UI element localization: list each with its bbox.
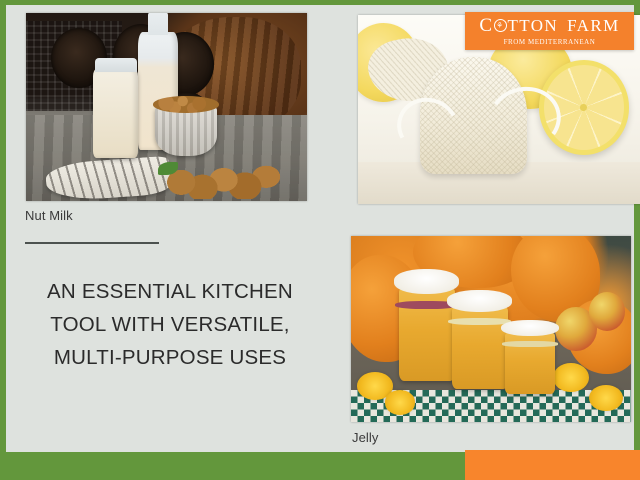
nut-milk-scene bbox=[26, 13, 307, 201]
jar-cloth-lid bbox=[501, 320, 559, 336]
brand-name-part-3: FARM bbox=[567, 17, 620, 34]
caption-jelly: Jelly bbox=[352, 430, 379, 445]
brand-name-part-1: C bbox=[479, 16, 493, 35]
jar-cloth-lid bbox=[394, 269, 459, 293]
headline: AN ESSENTIAL KITCHEN TOOL WITH VERSATILE… bbox=[25, 275, 315, 374]
milk-jar bbox=[93, 69, 138, 157]
brand-name-part-2: TTON bbox=[507, 17, 558, 34]
caption-nut-milk: Nut Milk bbox=[25, 208, 73, 223]
dandelion-flower bbox=[553, 363, 589, 393]
jar-ribbon-tie bbox=[502, 341, 558, 347]
jelly-jar bbox=[505, 333, 555, 394]
slide: Nut Milk Jelly AN ESSENTIAL KITCHEN TOOL… bbox=[0, 0, 640, 480]
pecan-bowl bbox=[155, 107, 217, 156]
jelly-scene bbox=[351, 236, 631, 422]
headline-divider bbox=[25, 242, 159, 244]
dandelion-flower bbox=[589, 385, 623, 411]
scattered-pecans bbox=[167, 162, 285, 200]
photo-jelly[interactable] bbox=[351, 236, 631, 422]
cotton-boll-emblem-icon: ⚘ bbox=[494, 19, 507, 32]
brand-tagline: FROM MEDITERRANEAN bbox=[504, 38, 596, 46]
brand-logo-banner[interactable]: C ⚘ TTON FARM FROM MEDITERRANEAN bbox=[465, 12, 634, 50]
headline-line-3: MULTI-PURPOSE USES bbox=[25, 341, 315, 374]
footer-orange-bar bbox=[465, 450, 640, 480]
jelly-jar bbox=[452, 307, 508, 389]
jar-cloth-lid bbox=[447, 290, 512, 311]
slide-canvas: Nut Milk Jelly AN ESSENTIAL KITCHEN TOOL… bbox=[6, 5, 634, 452]
dandelion-flower bbox=[385, 390, 416, 414]
headline-line-1: AN ESSENTIAL KITCHEN bbox=[25, 275, 315, 308]
headline-line-2: TOOL WITH VERSATILE, bbox=[25, 308, 315, 341]
jelly-jar bbox=[399, 288, 455, 381]
apple bbox=[589, 292, 625, 331]
photo-nut-milk[interactable] bbox=[26, 13, 307, 201]
brand-name: C ⚘ TTON FARM bbox=[479, 16, 619, 35]
